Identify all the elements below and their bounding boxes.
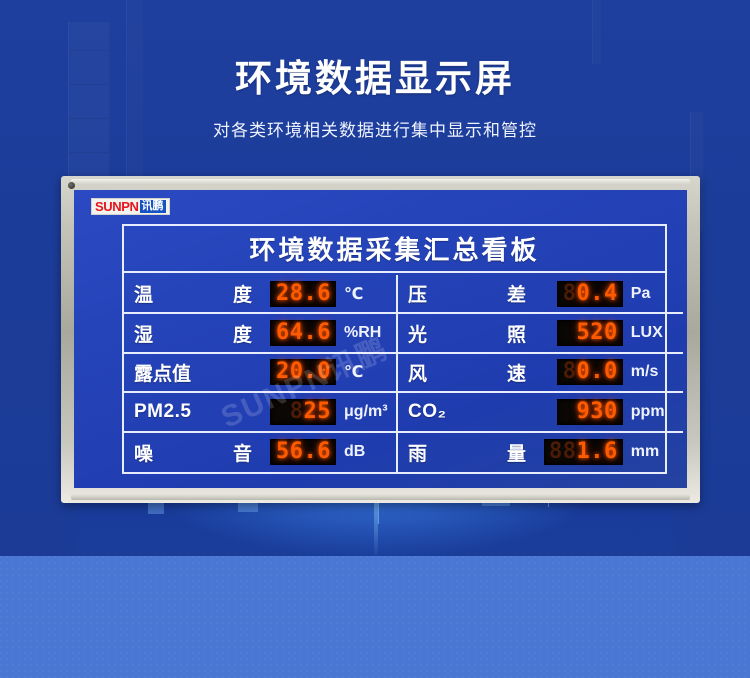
measurement-cell-illuminance: 光 照 520 LUX [398,314,683,353]
led-ghost-digits: 8 [290,400,304,424]
measurement-unit: ℃ [344,284,390,304]
measurement-cell-rainfall: 雨 量 88 1.6 mm [398,433,683,472]
measurement-label: 温 度 [134,280,266,307]
brand-logo: SUNPN 讯鹏 [91,198,170,215]
led-value: 64.6 [276,321,331,345]
led-readout: 8 0.0 [557,359,623,385]
led-readout: 28.6 [270,281,336,307]
measurement-label: 露点值 [134,359,191,386]
background-footer [0,556,750,678]
led-readout: 8 25 [270,399,336,425]
led-ghost-digits: 88 [549,440,577,464]
measurement-label: 湿 度 [134,320,266,347]
measurement-cell-pm25: PM2.5 8 25 μg/m³ [124,393,398,432]
measurement-unit: mm [631,443,677,461]
led-readout: 8 0.4 [557,281,623,307]
board-frame: SUNPN 讯鹏 SUNPN讯鹏 环境数据采集汇总看板 温 度 28.6 [61,176,700,503]
measurement-cell-pressure-difference: 压 差 8 0.4 Pa [398,275,683,314]
measurement-label: CO₂ [408,401,446,423]
led-ghost-digits: 8 [563,282,577,306]
led-readout: 56.6 [270,439,336,465]
measurement-cell-humidity: 湿 度 64.6 %RH [124,314,398,353]
led-value: 56.6 [276,440,331,464]
led-readout: 64.6 [270,320,336,346]
led-readout: 930 [557,399,623,425]
measurement-label: PM2.5 [134,401,191,423]
brand-logo-latin: SUNPN [95,200,139,213]
measurement-unit: %RH [344,324,390,342]
board-title: 环境数据采集汇总看板 [124,226,665,273]
measurement-unit: LUX [631,324,677,342]
page-root: 环境数据显示屏 对各类环境相关数据进行集中显示和管控 SUNPN 讯鹏 SUNP… [0,0,750,678]
led-value: 20.0 [276,360,331,384]
led-value: 28.6 [276,282,331,306]
measurement-label: 风 速 [408,359,540,386]
led-ghost-digits: 8 [563,360,577,384]
measurement-unit: dB [344,443,390,461]
led-value: 930 [577,400,618,424]
led-readout: 20.0 [270,359,336,385]
measurement-cell-co2: CO₂ 930 ppm [398,393,683,432]
brand-logo-chinese: 讯鹏 [140,200,166,213]
measurement-grid: 温 度 28.6 ℃ 压 差 8 [124,275,665,472]
led-readout: 520 [557,320,623,346]
screw-icon [68,182,75,189]
measurement-label: 雨 量 [408,439,540,466]
measurement-cell-noise: 噪 音 56.6 dB [124,433,398,472]
measurement-label: 噪 音 [134,439,266,466]
data-panel: 环境数据采集汇总看板 温 度 28.6 ℃ 压 差 [122,224,667,474]
page-subtitle: 对各类环境相关数据进行集中显示和管控 [0,116,750,141]
led-value: 0.0 [577,360,618,384]
measurement-unit: μg/m³ [344,403,390,421]
page-title: 环境数据显示屏 [0,48,750,102]
measurement-cell-wind-speed: 风 速 8 0.0 m/s [398,354,683,393]
led-value: 520 [577,321,618,345]
led-readout: 88 1.6 [544,439,623,465]
led-display-board: SUNPN 讯鹏 SUNPN讯鹏 环境数据采集汇总看板 温 度 28.6 [61,176,700,503]
measurement-unit: Pa [631,285,677,303]
measurement-unit: ℃ [344,362,390,382]
measurement-label: 压 差 [408,280,540,307]
measurement-cell-temperature: 温 度 28.6 ℃ [124,275,398,314]
measurement-label: 光 照 [408,320,540,347]
measurement-cell-dew-point: 露点值 20.0 ℃ [124,354,398,393]
measurement-unit: m/s [631,363,677,381]
measurement-unit: ppm [631,403,677,421]
led-value: 0.4 [577,282,618,306]
board-screen: SUNPN 讯鹏 SUNPN讯鹏 环境数据采集汇总看板 温 度 28.6 [74,190,687,488]
led-value: 1.6 [577,440,618,464]
led-value: 25 [304,400,332,424]
